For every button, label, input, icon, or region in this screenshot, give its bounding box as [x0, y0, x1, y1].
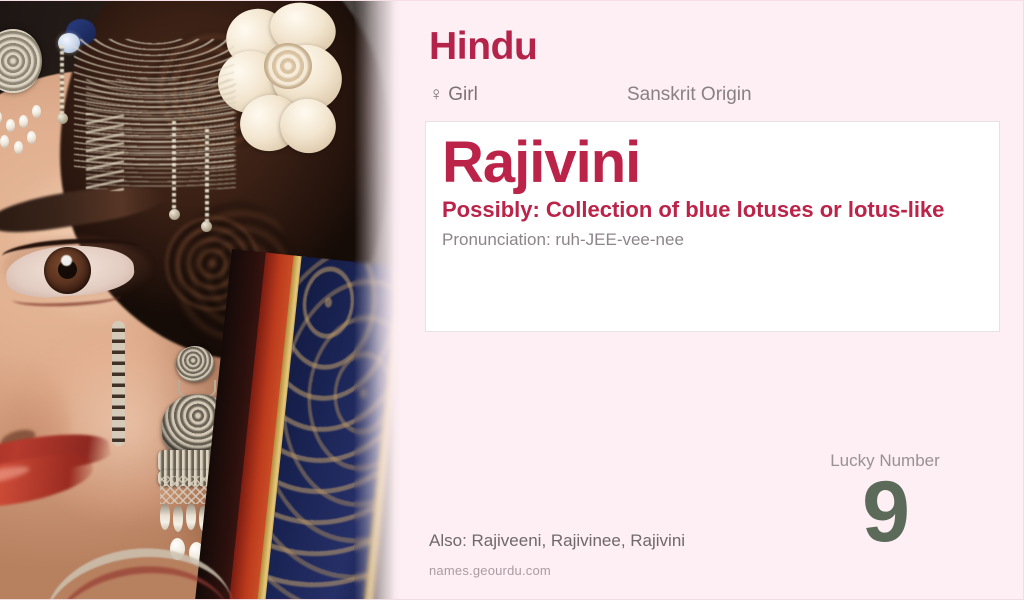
earring-drop: [173, 506, 183, 532]
pearl-fringe: [0, 93, 56, 171]
tassel-bead: [57, 113, 68, 124]
pearl: [14, 141, 23, 154]
name-card-page: Hindu ♀Girl Sanskrit Origin Rajivini Pos…: [0, 0, 1024, 600]
alternate-spellings: Also: Rajiveeni, Rajivinee, Rajivini: [429, 530, 685, 552]
bride-photo: [0, 1, 400, 600]
chain-tassel: [60, 45, 64, 117]
origin-label: Sanskrit Origin: [627, 83, 752, 107]
ear-bead-chain: [112, 321, 125, 446]
tassel-bead: [201, 221, 212, 232]
white-rose: [218, 3, 346, 163]
gender-text: Girl: [448, 84, 478, 105]
baby-name: Rajivini: [442, 132, 983, 195]
religion-title: Hindu: [429, 27, 537, 66]
tassel-bead: [169, 209, 180, 220]
pearl: [27, 131, 36, 144]
temple-jewellery-spray: [86, 113, 124, 191]
rose-center: [264, 43, 312, 89]
info-panel: Hindu ♀Girl Sanskrit Origin Rajivini Pos…: [400, 1, 1024, 600]
earring-drop: [186, 504, 196, 530]
site-watermark: names.geourdu.com: [429, 563, 551, 580]
pearl: [6, 119, 15, 132]
earring-stud: [176, 346, 214, 382]
name-meaning: Possibly: Collection of blue lotuses or …: [442, 197, 983, 224]
pearl: [0, 111, 2, 124]
photo-edge-fade: [354, 1, 400, 600]
earring-drop: [160, 504, 170, 530]
female-icon: ♀: [429, 84, 443, 105]
chain-tassel: [172, 121, 176, 213]
pearl: [19, 115, 28, 128]
meta-row: ♀Girl Sanskrit Origin: [429, 83, 989, 107]
pearl: [0, 135, 9, 148]
name-detail-card: Rajivini Possibly: Collection of blue lo…: [425, 121, 1000, 332]
chain-tassel: [205, 129, 209, 227]
lucky-number-block: Lucky Number 9: [770, 451, 1000, 551]
lucky-number-value: 9: [770, 475, 1000, 551]
pearl: [32, 105, 41, 118]
photo-stage: [0, 1, 400, 600]
gender-label: ♀Girl: [429, 83, 478, 107]
name-pronunciation: Pronunciation: ruh-JEE-vee-nee: [442, 229, 983, 251]
